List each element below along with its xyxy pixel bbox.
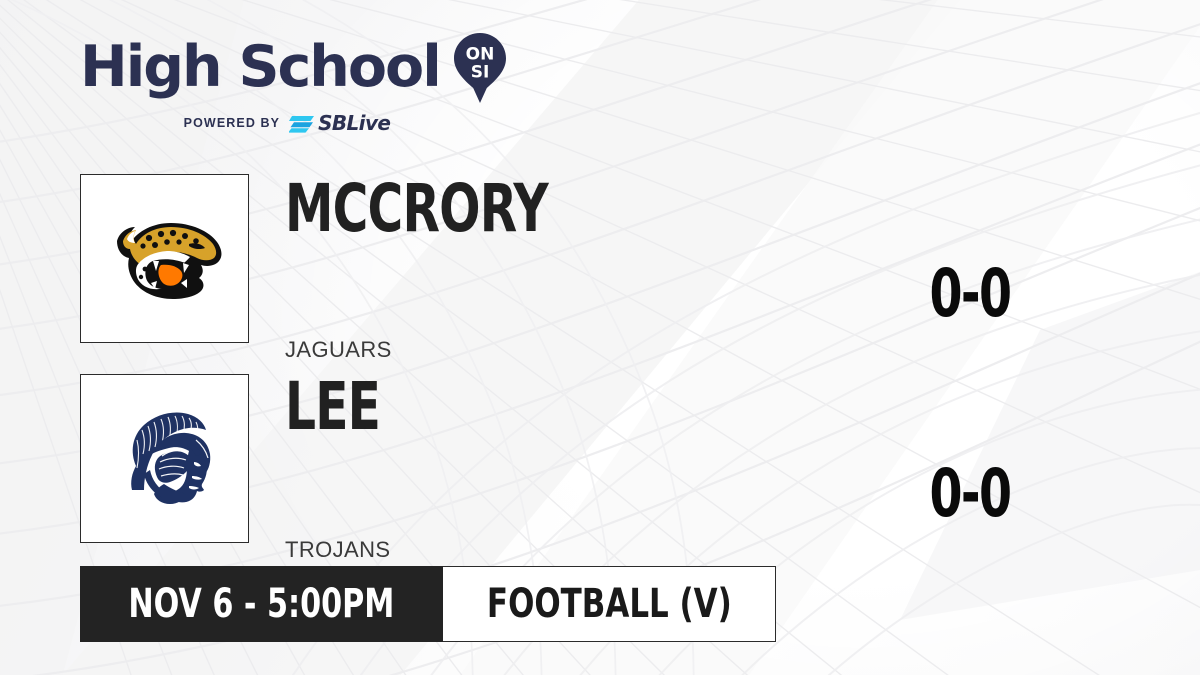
sblive-logo: SBLive [289,113,390,133]
game-info-bar: NOV 6 - 5:00PM FOOTBALL (V) [80,566,776,642]
team-logo-mccrory [80,174,249,343]
jaguar-head-logo-icon [105,211,225,306]
powered-by-label: POWERED BY [184,116,280,130]
team-mascot-jaguars: JAGUARS [285,339,392,361]
game-preview-card: High School ON SI POWERED BY SBLive [0,0,1200,675]
team-logo-lee [80,374,249,543]
trojan-warrior-logo-icon [106,400,224,518]
game-sport-text: FOOTBALL (V) [487,581,732,627]
game-datetime-text: NOV 6 - 5:00PM [128,581,394,627]
pin-on-text: ON [465,45,494,65]
on-si-pin-icon: ON SI [452,32,508,104]
team-record-lee: 0-0 [890,461,1050,527]
game-datetime-badge: NOV 6 - 5:00PM [80,566,443,642]
sblive-wordmark: SBLive [318,113,390,133]
team-record-mccrory: 0-0 [890,261,1050,327]
game-sport-badge: FOOTBALL (V) [443,566,777,642]
team-name-mccrory: MCCRORY [285,176,548,242]
team-mascot-trojans: TROJANS [285,539,390,561]
team-name-lee: LEE [285,374,380,440]
brand-header: High School ON SI POWERED BY SBLive [80,30,508,133]
pin-si-text: SI [470,63,489,83]
brand-title-row: High School ON SI [80,30,508,104]
powered-by-row: POWERED BY SBLive [80,113,494,133]
page-title: High School [80,39,440,96]
sblive-s-mark-icon [289,114,315,133]
